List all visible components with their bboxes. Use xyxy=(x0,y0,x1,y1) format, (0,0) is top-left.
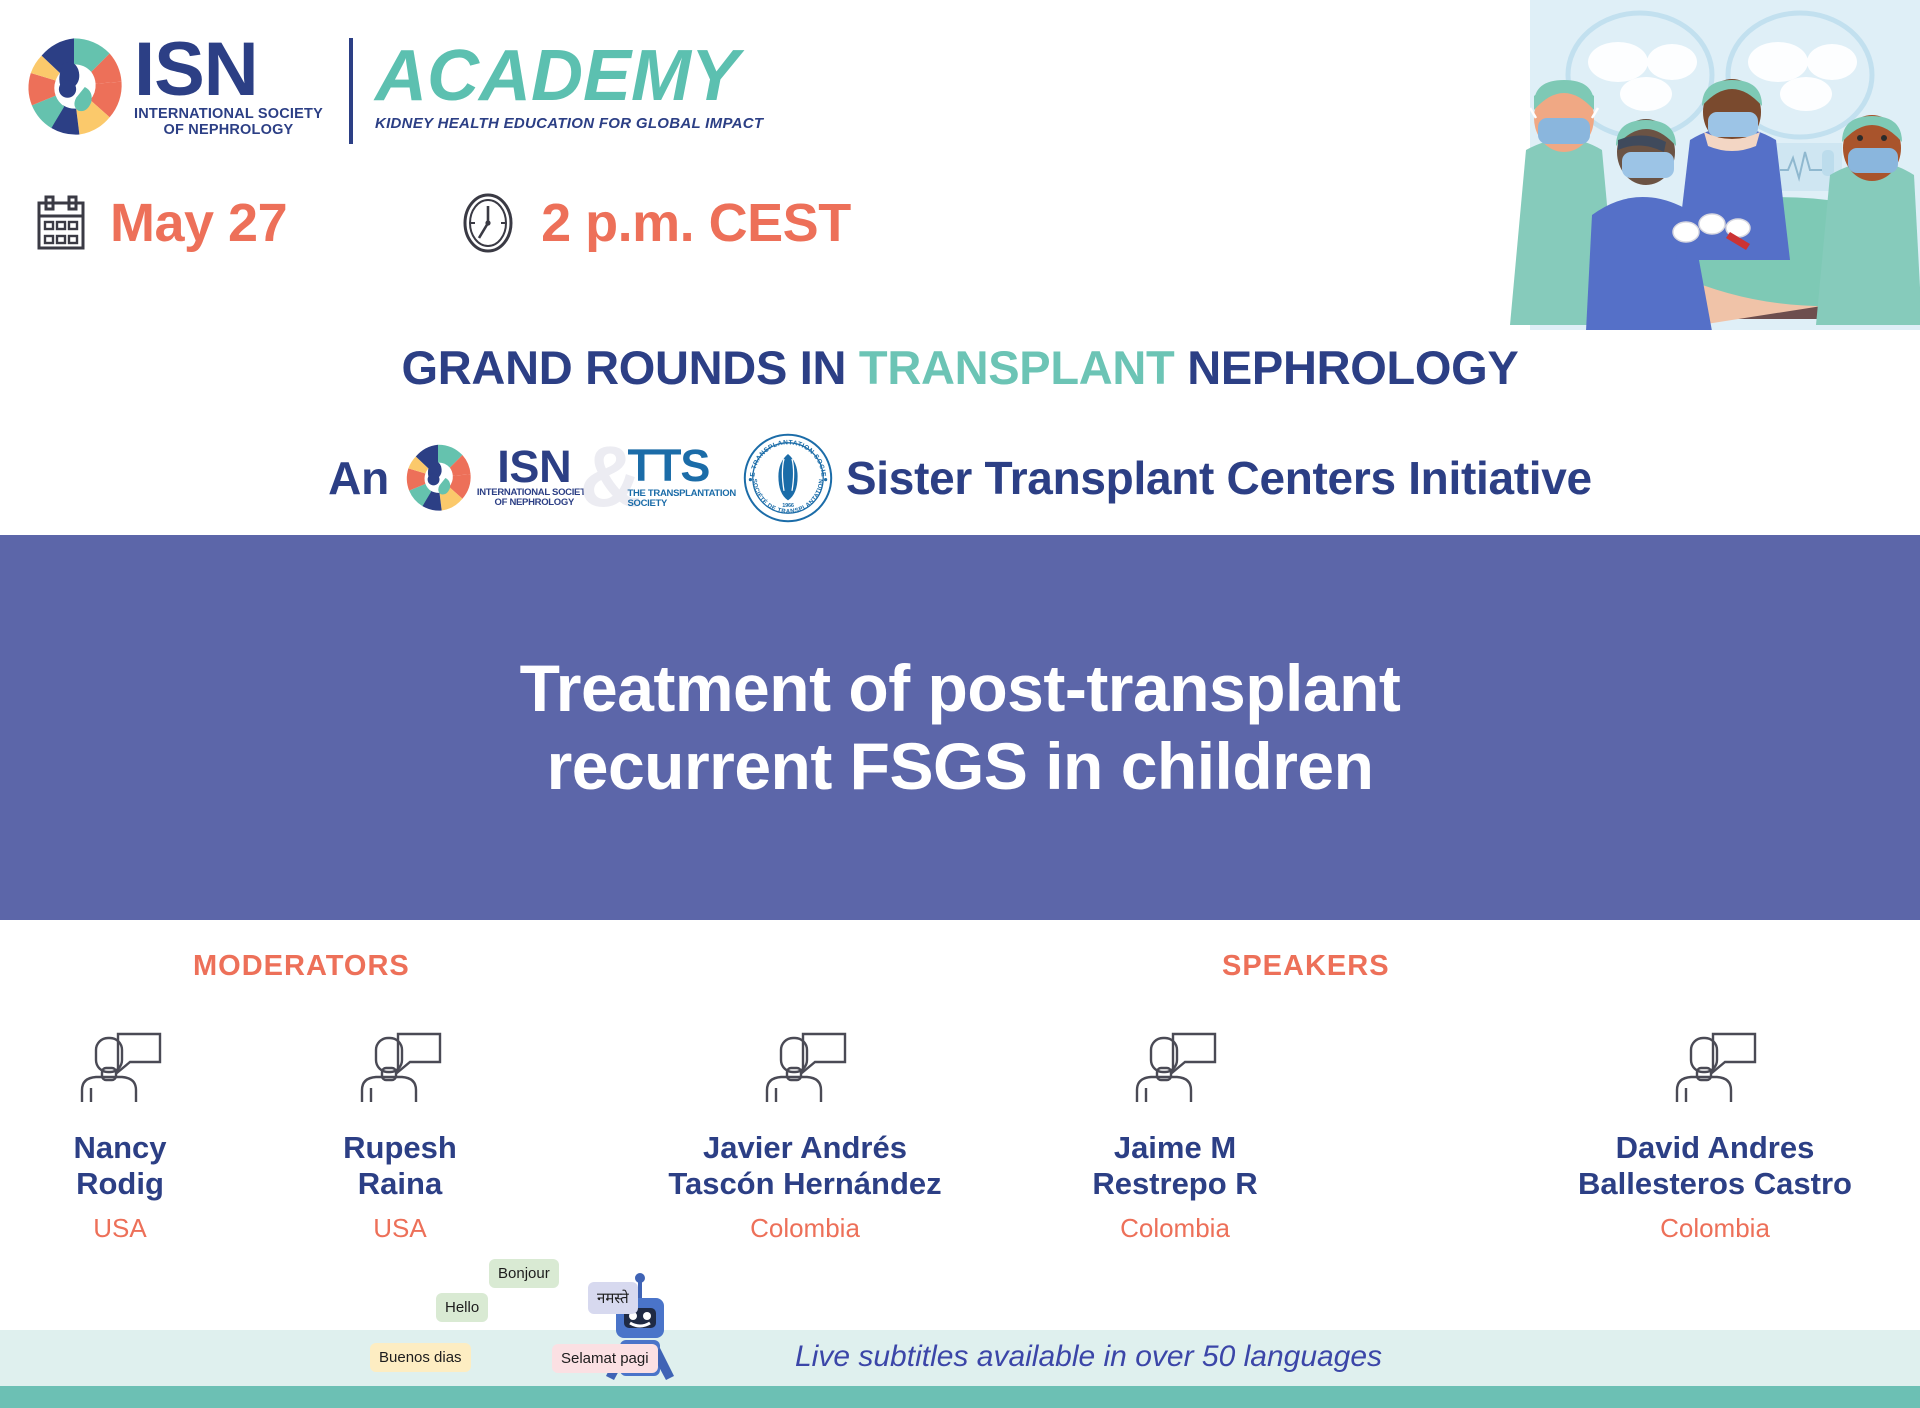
subhead-prefix: An xyxy=(328,451,389,505)
event-time-item: 2 p.m. CEST xyxy=(457,192,851,254)
participant-country: Colombia xyxy=(1040,1213,1310,1244)
participant-name: Jaime M Restrepo R xyxy=(1040,1130,1310,1203)
tts-seal-icon: THE TRANSPLANTATION SOCIETY SOCIÉTÉ DE T… xyxy=(740,430,836,526)
tts-acronym: TTS xyxy=(627,446,709,487)
speaker-person-icon xyxy=(1540,1020,1890,1106)
academy-tagline: KIDNEY HEALTH EDUCATION FOR GLOBAL IMPAC… xyxy=(375,115,763,132)
participant-country: Colombia xyxy=(1540,1213,1890,1244)
session-title-line2: recurrent FSGS in children xyxy=(547,729,1374,803)
clock-icon xyxy=(457,192,519,254)
event-date-item: May 27 xyxy=(34,192,287,254)
participant-name: David Andres Ballesteros Castro xyxy=(1540,1130,1890,1203)
session-title-line1: Treatment of post-transplant xyxy=(520,651,1401,725)
inline-isn-subtitle: INTERNATIONAL SOCIETY OF NEPHROLOGY xyxy=(477,488,592,508)
headline-part1: GRAND ROUNDS IN xyxy=(402,341,859,394)
speaker-card-0: Javier Andrés Tascón Hernández Colombia xyxy=(630,1020,980,1244)
surgical-team-illustration xyxy=(1500,0,1920,330)
inline-isn-acronym: ISN xyxy=(497,447,571,488)
tts-wordmark: TTS THE TRANSPLANTATION SOCIETY xyxy=(627,446,735,508)
participant-country: USA xyxy=(290,1213,510,1244)
participant-name: Nancy Rodig xyxy=(10,1130,230,1203)
speaker-card-1: Jaime M Restrepo R Colombia xyxy=(1040,1020,1310,1244)
translator-robot-icon: Hello Bonjour नमस्ते Buenos dias Selamat… xyxy=(480,1268,800,1388)
moderators-label: MODERATORS xyxy=(193,950,410,983)
poster-root: ISN INTERNATIONAL SOCIETY OF NEPHROLOGY … xyxy=(0,0,1920,1408)
moderator-card-0: Nancy Rodig USA xyxy=(10,1020,230,1244)
participant-name: Javier Andrés Tascón Hernández xyxy=(630,1130,980,1203)
event-time: 2 p.m. CEST xyxy=(541,192,851,254)
bubble-selamat-pagi: Selamat pagi xyxy=(552,1344,658,1373)
event-meta-row: May 27 2 p.m. CEST xyxy=(34,192,851,254)
subhead-suffix: Sister Transplant Centers Initiative xyxy=(846,451,1592,505)
session-title-banner: Treatment of post-transplant recurrent F… xyxy=(0,535,1920,920)
headline-highlight: TRANSPLANT xyxy=(859,341,1175,394)
calendar-icon xyxy=(34,194,88,252)
inline-isn-logo: ISN INTERNATIONAL SOCIETY OF NEPHROLOGY xyxy=(401,441,592,515)
footer-accent-bar xyxy=(0,1386,1920,1408)
isn-academy-logo: ISN INTERNATIONAL SOCIETY OF NEPHROLOGY … xyxy=(20,30,763,144)
academy-wordmark: ACADEMY xyxy=(375,42,739,110)
participant-country: USA xyxy=(10,1213,230,1244)
speakers-label: SPEAKERS xyxy=(1222,950,1390,983)
logo-divider xyxy=(349,38,353,144)
session-title: Treatment of post-transplant recurrent F… xyxy=(520,650,1401,804)
participant-name: Rupesh Raina xyxy=(290,1130,510,1203)
speaker-person-icon xyxy=(630,1020,980,1106)
speaker-card-2: David Andres Ballesteros Castro Colombia xyxy=(1540,1020,1890,1244)
initiative-subtitle: An ISN INTERNATIONAL SOCIETY xyxy=(0,428,1920,527)
bubble-namaste: नमस्ते xyxy=(588,1282,638,1314)
event-date: May 27 xyxy=(110,192,287,254)
speaker-person-icon xyxy=(290,1020,510,1106)
page-title: GRAND ROUNDS IN TRANSPLANT NEPHROLOGY xyxy=(0,340,1920,395)
isn-ring-logo-icon xyxy=(401,441,475,515)
tts-subtitle: THE TRANSPLANTATION SOCIETY xyxy=(627,489,735,509)
svg-text:1966: 1966 xyxy=(782,502,794,508)
moderator-card-1: Rupesh Raina USA xyxy=(290,1020,510,1244)
participant-country: Colombia xyxy=(630,1213,980,1244)
bubble-buenos-dias: Buenos dias xyxy=(370,1343,471,1372)
participants-row: Nancy Rodig USA Rupesh Raina USA xyxy=(0,1020,1920,1280)
speaker-person-icon xyxy=(1040,1020,1310,1106)
isn-subtitle: INTERNATIONAL SOCIETY OF NEPHROLOGY xyxy=(134,107,323,138)
speaker-person-icon xyxy=(10,1020,230,1106)
isn-ring-logo-icon xyxy=(20,33,128,141)
headline-part3: NEPHROLOGY xyxy=(1174,341,1518,394)
bubble-bonjour: Bonjour xyxy=(489,1259,559,1288)
bubble-hello: Hello xyxy=(436,1293,488,1322)
subtitle-note: Live subtitles available in over 50 lang… xyxy=(795,1340,1382,1374)
isn-acronym: ISN xyxy=(134,35,258,105)
